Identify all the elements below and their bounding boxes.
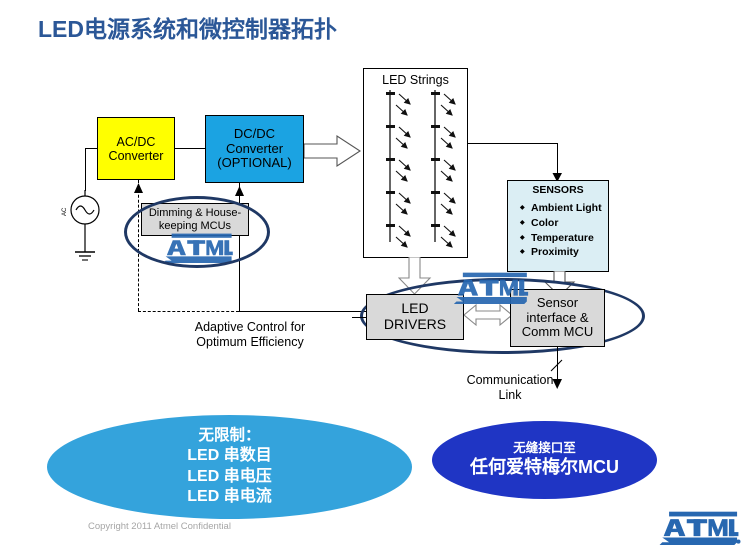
callout-seamless-mcu[interactable]: 无缝接口至 任何爱特梅尔MCU — [432, 421, 657, 499]
acdc-line2: Converter — [109, 149, 164, 163]
unlimited-line: LED 串电压 — [187, 467, 271, 487]
sensors-title: SENSORS — [508, 185, 608, 197]
led-drivers-line1: LED — [401, 301, 428, 317]
arrowhead-into-acdc — [134, 180, 143, 198]
adaptive-control-caption: Adaptive Control for Optimum Efficiency — [160, 320, 340, 350]
sensors-item: Color — [520, 216, 608, 231]
comm-caption-line1: Communication — [430, 373, 590, 388]
sensors-item: Temperature — [520, 231, 608, 246]
wire-ac-vertical — [85, 148, 86, 191]
communication-link-caption: Communication Link — [430, 373, 590, 403]
sensor-mcu-line1: Sensor — [537, 296, 578, 311]
arrow-dcdc-to-led-strings — [304, 134, 362, 173]
dashed-line-adaptive — [138, 311, 239, 312]
led-strings-title: LED Strings — [382, 73, 449, 87]
ac-source-label: AC — [62, 208, 68, 216]
block-acdc-converter[interactable]: AC/DC Converter — [97, 117, 175, 180]
seamless-line2: 任何爱特梅尔MCU — [470, 456, 619, 479]
unlimited-line: LED 串数目 — [187, 446, 271, 466]
sensor-mcu-line2: interface & — [526, 311, 588, 326]
copyright-text: Copyright 2011 Atmel Confidential — [88, 521, 231, 532]
sensors-list: Ambient Light Color Temperature Proximit… — [508, 201, 608, 261]
sensors-item: Proximity — [520, 245, 608, 260]
comm-caption-line2: Link — [430, 388, 590, 403]
slide-canvas: LED电源系统和微控制器拓扑 AC AC/DC Converter DC/DC … — [0, 0, 747, 553]
highlight-ellipse-mcus — [124, 196, 270, 268]
seamless-line1: 无缝接口至 — [513, 440, 576, 456]
led-string-graphics — [363, 86, 468, 261]
acdc-line1: AC/DC — [117, 135, 156, 149]
sensor-mcu-line3: Comm MCU — [522, 325, 594, 340]
wire-into-led-drivers — [352, 317, 367, 318]
ac-source-symbol — [62, 190, 108, 273]
wire-led-strings-to-sensors — [468, 143, 558, 144]
unlimited-heading: 无限制： — [198, 426, 260, 446]
block-dcdc-converter[interactable]: DC/DC Converter (OPTIONAL) — [205, 115, 304, 183]
atmel-logo-footer — [657, 511, 741, 550]
unlimited-line: LED 串电流 — [187, 487, 271, 507]
block-led-drivers[interactable]: LED DRIVERS — [366, 294, 464, 340]
dcdc-line2: Converter — [226, 142, 283, 157]
block-sensors[interactable]: SENSORS Ambient Light Color Temperature … — [507, 180, 609, 272]
wire-acdc-to-dcdc — [175, 148, 206, 149]
callout-unlimited[interactable]: 无限制： LED 串数目 LED 串电压 LED 串电流 — [47, 415, 412, 519]
dcdc-line3: (OPTIONAL) — [217, 156, 291, 171]
adaptive-caption-line2: Optimum Efficiency — [160, 335, 340, 350]
wire-sensors-drop — [557, 143, 558, 173]
adaptive-caption-line1: Adaptive Control for — [160, 320, 340, 335]
arrowhead-into-dcdc — [235, 183, 244, 201]
dcdc-line1: DC/DC — [234, 127, 275, 142]
atmel-logo-watermark-right — [452, 272, 530, 309]
led-drivers-line2: DRIVERS — [384, 317, 446, 333]
page-title: LED电源系统和微控制器拓扑 — [38, 10, 337, 44]
sensors-item: Ambient Light — [520, 201, 608, 216]
wire-adaptive-to-drivers — [239, 311, 366, 312]
